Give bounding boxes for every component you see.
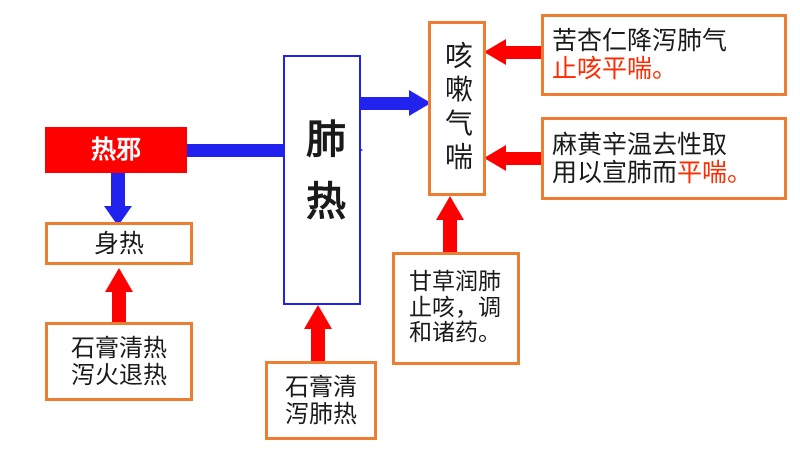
node-shigao-left-line2: 泻火退热 <box>71 362 167 389</box>
annotation-xingren-line2: 止咳平喘。 <box>544 55 784 83</box>
node-shigao-left[interactable]: 石膏清热 泻火退热 <box>45 322 193 401</box>
node-lung-heat[interactable]: 肺热 <box>283 55 361 305</box>
node-pathogen-label: 热邪 <box>91 136 141 164</box>
node-gancao-line2: 止咳，调 <box>401 296 517 322</box>
node-gancao-line1: 甘草润肺 <box>401 270 517 296</box>
node-lung-heat-label: 肺热 <box>302 118 342 242</box>
node-shigao-left-line1: 石膏清热 <box>71 335 167 362</box>
annotation-mahuang-line2-black: 用以宣肺而 <box>552 158 677 187</box>
node-shigao-center-line2: 泻肺热 <box>285 401 357 428</box>
node-cough-wheeze-label: 咳嗽气喘 <box>443 41 471 175</box>
node-cough-wheeze[interactable]: 咳嗽气喘 <box>428 21 486 196</box>
node-pathogen[interactable]: 热邪 <box>45 127 187 173</box>
annotation-mahuang-line2: 用以宣肺而平喘。 <box>544 159 784 187</box>
annotation-mahuang-line2-red: 平喘。 <box>677 158 752 187</box>
node-body-heat[interactable]: 身热 <box>45 222 193 265</box>
node-gancao[interactable]: 甘草润肺 止咳，调 和诸药。 <box>392 252 520 365</box>
node-body-heat-label: 身热 <box>94 230 144 258</box>
annotation-xingren-line1: 苦杏仁降泻肺气 <box>544 27 784 55</box>
node-gancao-line3: 和诸药。 <box>401 321 517 347</box>
diagram-canvas: 热邪 身热 石膏清热 泻火退热 肺热 石膏清 泻肺热 咳嗽气喘 甘草润肺 止咳，… <box>0 0 800 452</box>
annotation-mahuang[interactable]: 麻黄辛温去性取 用以宣肺而平喘。 <box>541 117 787 200</box>
node-shigao-center-line1: 石膏清 <box>285 374 357 401</box>
annotation-mahuang-line1: 麻黄辛温去性取 <box>544 131 784 159</box>
node-shigao-center[interactable]: 石膏清 泻肺热 <box>265 361 377 440</box>
annotation-xingren[interactable]: 苦杏仁降泻肺气 止咳平喘。 <box>541 14 787 96</box>
